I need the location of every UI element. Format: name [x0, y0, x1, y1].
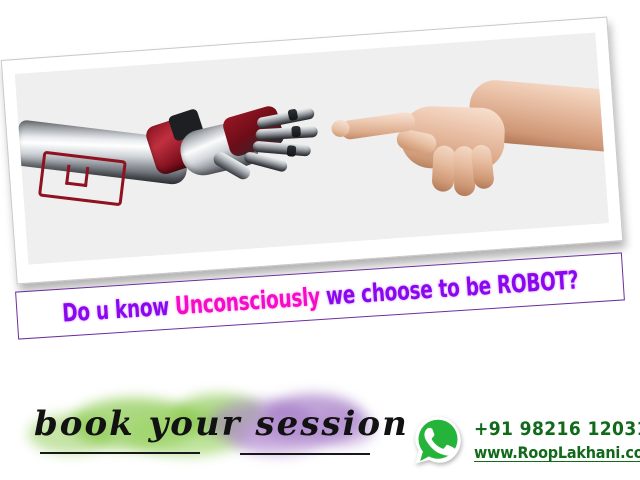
cta-underline-right — [240, 453, 370, 455]
robot-fingertip-1 — [287, 109, 298, 122]
phone-number[interactable]: +91 98216 12031 — [474, 418, 640, 440]
robot-fingertip-2 — [291, 126, 301, 137]
human-hand-illustration — [308, 56, 609, 227]
tagline-part-2: we choose to be ROBOT? — [319, 265, 579, 311]
photo-frame — [1, 17, 624, 285]
promotional-poster: Do u know Unconsciously we choose to be … — [0, 0, 640, 480]
cta-underline-left — [40, 452, 200, 454]
tagline-part-1: Do u know — [61, 291, 176, 327]
human-curled-finger-1 — [431, 145, 455, 192]
cta-underline-group — [40, 452, 370, 458]
robot-arm-illustration — [15, 71, 349, 224]
contact-text-lines: +91 98216 12031 www.RoopLakhani.co.in — [474, 418, 640, 462]
photo-image — [15, 32, 609, 264]
contact-block: +91 98216 12031 www.RoopLakhani.co.in — [412, 414, 640, 466]
whatsapp-icon[interactable] — [412, 414, 464, 466]
robot-finger-2 — [255, 126, 318, 140]
robot-fingertip-3 — [287, 145, 297, 157]
book-your-session-text: book your session — [34, 404, 374, 444]
tagline-highlight: Unconsciously — [174, 282, 321, 320]
website-link[interactable]: www.RoopLakhani.co.in — [474, 443, 640, 462]
robot-hook-detail — [65, 165, 89, 187]
